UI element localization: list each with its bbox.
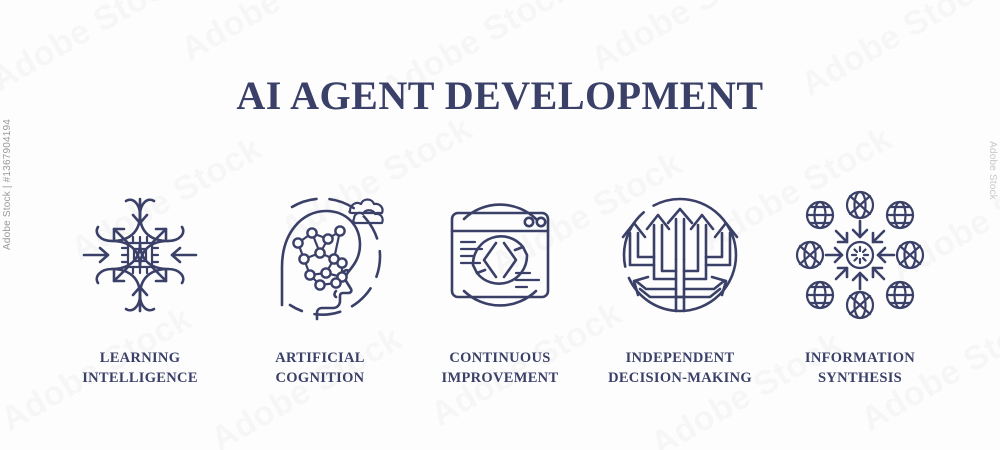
browser-code-refresh-icon	[430, 185, 570, 325]
watermark-credit-right: Adobe Stock	[987, 141, 998, 200]
label-line-2: SYNTHESIS	[770, 368, 950, 389]
label-line-1: CONTINUOUS	[449, 350, 550, 366]
branching-arrow-tree-icon	[610, 185, 750, 325]
label-line-1: INDEPENDENT	[626, 350, 735, 366]
page-title: AI AGENT DEVELOPMENT	[236, 76, 763, 116]
chip-radiating-arrows-icon	[70, 185, 210, 325]
item-information-synthesis[interactable]: INFORMATION SYNTHESIS	[770, 185, 950, 389]
item-label-artificial-cognition: ARTIFICIAL COGNITION	[230, 348, 410, 389]
item-artificial-cognition[interactable]: ARTIFICIAL COGNITION	[230, 185, 410, 389]
label-line-2: COGNITION	[230, 368, 410, 389]
item-label-information-synthesis: INFORMATION SYNTHESIS	[770, 348, 950, 389]
globe-hub-network-icon	[790, 185, 930, 325]
label-line-2: DECISION-MAKING	[590, 368, 770, 389]
label-line-1: LEARNING	[100, 350, 181, 366]
label-line-1: ARTIFICIAL	[275, 350, 365, 366]
label-line-2: INTELLIGENCE	[50, 368, 230, 389]
watermark-credit-left: Adobe Stock | #1367904194	[2, 119, 13, 250]
head-neural-network-cloud-icon	[250, 185, 390, 325]
infographic-canvas: AI AGENT DEVELOPMENT	[0, 0, 1000, 450]
item-label-learning-intelligence: LEARNING INTELLIGENCE	[50, 348, 230, 389]
label-line-2: IMPROVEMENT	[410, 368, 590, 389]
item-learning-intelligence[interactable]: LEARNING INTELLIGENCE	[50, 185, 230, 389]
icon-items-row: LEARNING INTELLIGENCE	[0, 185, 1000, 389]
item-continuous-improvement[interactable]: CONTINUOUS IMPROVEMENT	[410, 185, 590, 389]
item-label-continuous-improvement: CONTINUOUS IMPROVEMENT	[410, 348, 590, 389]
item-label-independent-decision-making: INDEPENDENT DECISION-MAKING	[590, 348, 770, 389]
item-independent-decision-making[interactable]: INDEPENDENT DECISION-MAKING	[590, 185, 770, 389]
label-line-1: INFORMATION	[805, 350, 915, 366]
